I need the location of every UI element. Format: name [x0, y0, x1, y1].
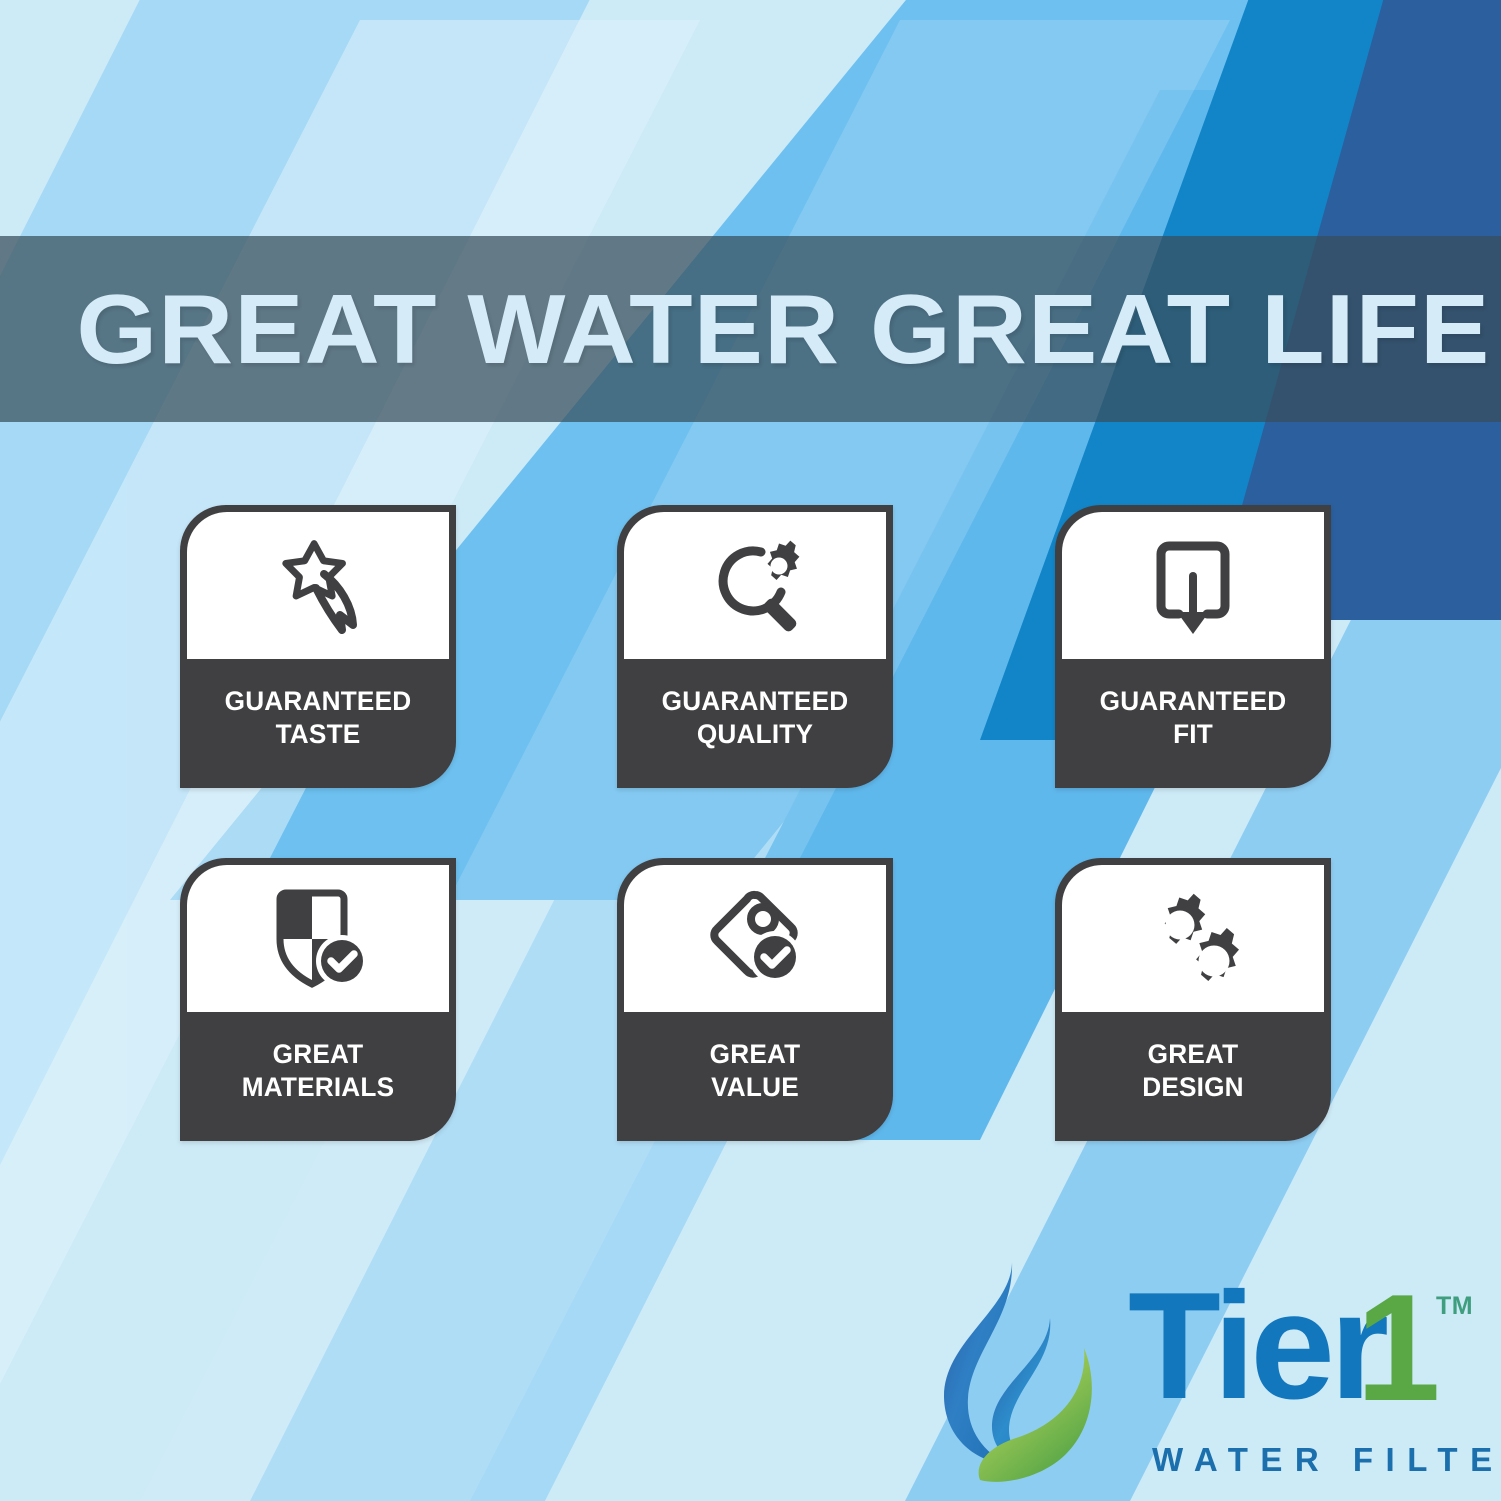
feature-card-label: GUARANTEED TASTE — [184, 659, 452, 788]
feature-card-value[interactable]: GREAT VALUE — [617, 858, 893, 1141]
feature-card-fit[interactable]: GUARANTEED FIT — [1055, 505, 1331, 788]
feature-card-label: GREAT VALUE — [621, 1012, 889, 1141]
brand-name-primary: Tier — [1128, 1270, 1384, 1422]
brand-wordmark: Tier 1 TM WATER FILTERS — [1128, 1270, 1448, 1485]
brand-name-accent: 1 — [1356, 1272, 1441, 1424]
feature-card-materials[interactable]: GREAT MATERIALS — [180, 858, 456, 1141]
trademark-symbol: TM — [1436, 1292, 1473, 1321]
magnifier-gear-icon — [624, 512, 886, 659]
feature-card-quality[interactable]: GUARANTEED QUALITY — [617, 505, 893, 788]
two-gears-icon — [1062, 865, 1324, 1012]
feature-card-design[interactable]: GREAT DESIGN — [1055, 858, 1331, 1141]
feature-card-taste[interactable]: GUARANTEED TASTE — [180, 505, 456, 788]
price-tag-check-icon — [624, 865, 886, 1012]
brand-logo[interactable]: Tier 1 TM WATER FILTERS — [938, 1248, 1448, 1493]
shooting-star-icon — [187, 512, 449, 659]
feature-card-label: GUARANTEED FIT — [1059, 659, 1327, 788]
shield-check-icon — [187, 865, 449, 1012]
feature-card-label: GREAT DESIGN — [1059, 1012, 1327, 1141]
brand-tagline: WATER FILTERS — [1152, 1441, 1501, 1479]
feature-card-label: GUARANTEED QUALITY — [621, 659, 889, 788]
water-drop-leaf-icon — [938, 1256, 1118, 1491]
feature-card-label: GREAT MATERIALS — [184, 1012, 452, 1141]
insert-arrow-icon — [1062, 512, 1324, 659]
